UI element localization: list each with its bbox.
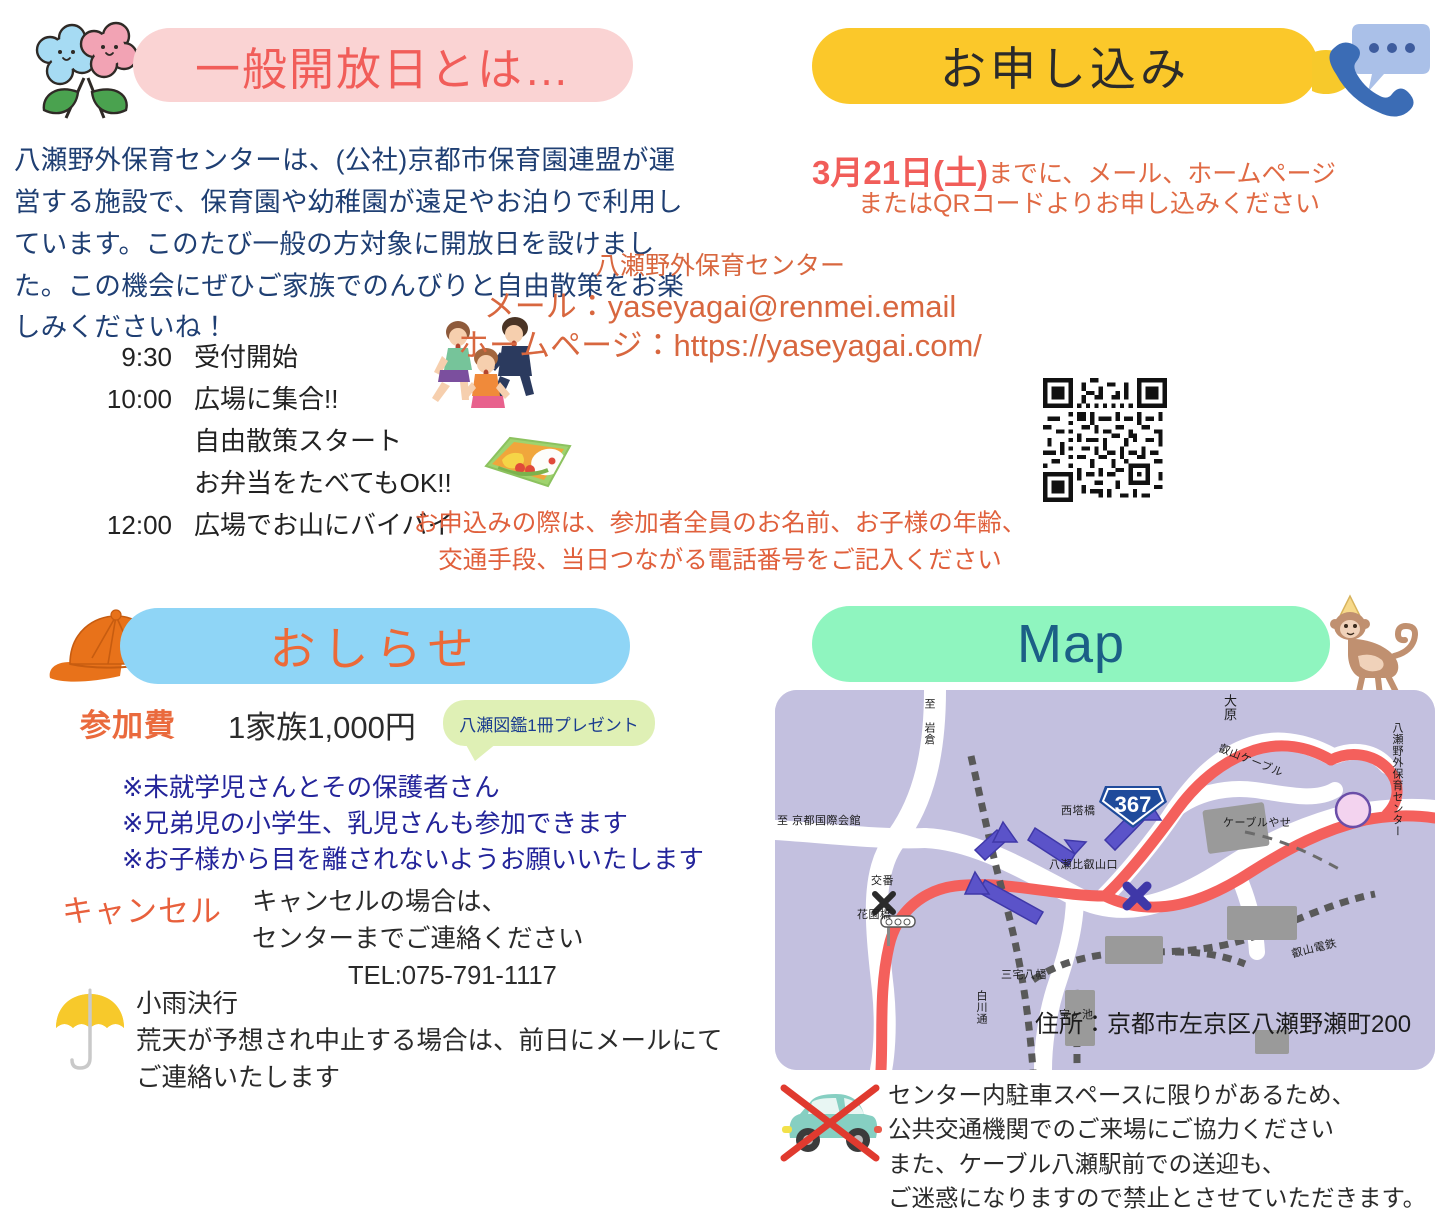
map-label-koban: 交番 xyxy=(871,872,894,888)
schedule-row: 自由散策スタート xyxy=(60,420,453,462)
apply-note-line: 交通手段、当日つながる電話番号をご記入ください xyxy=(0,543,1440,580)
schedule-text: 広場に集合!! xyxy=(194,378,338,420)
cancel-line: センターまでご連絡ください xyxy=(252,921,584,958)
cancel-line: キャンセルの場合は、 xyxy=(252,884,584,921)
schedule-time xyxy=(60,462,194,504)
monkey-icon xyxy=(1318,594,1430,698)
map-label-to-iwakura: 至 岩倉 xyxy=(923,698,934,745)
map-label-miyake-hachiman: 三宅八幡 xyxy=(1001,966,1047,982)
bento-illustration xyxy=(480,424,576,502)
rain-title: 小雨決行 xyxy=(136,986,723,1023)
schedule-text: 自由散策スタート xyxy=(194,420,402,462)
svg-text:367: 367 xyxy=(1115,792,1152,817)
map-label-ohara: 大原 xyxy=(1223,694,1236,721)
parking-note-line: センター内駐車スペースに限りがあるため、 xyxy=(888,1078,1426,1112)
gift-bubble: 八瀬図鑑1冊プレゼント xyxy=(443,700,655,746)
notice-note: ※お子様から目を離されないようお願いいたします xyxy=(122,842,704,878)
rain-line: ご連絡いたします xyxy=(136,1060,723,1097)
map-title: Map xyxy=(812,606,1330,682)
map-label-center: 八瀬野外保育センター xyxy=(1391,722,1402,837)
notice-note: ※未就学児さんとその保護者さん xyxy=(122,770,704,806)
map-label-saitou-bashi: 西塔橋 xyxy=(1061,802,1096,818)
about-line: 営する施設で、保育園や幼稚園が遠足やお泊りで利用し xyxy=(14,182,704,224)
schedule-row: 10:00 広場に集合!! xyxy=(60,378,453,420)
contact-website[interactable]: ホームページ：https://yaseyagai.com/ xyxy=(0,320,1440,365)
parking-note: センター内駐車スペースに限りがあるため、 公共交通機関でのご来場にご協力ください… xyxy=(888,1078,1426,1215)
parking-note-line: ご迷惑になりますので禁止とさせていただきます。 xyxy=(888,1181,1426,1215)
flyer-page: 一般開放日とは… 八瀬野外保育センターは、(公社)京都市保育園連盟が運 営する施… xyxy=(0,0,1440,1209)
umbrella-icon xyxy=(52,988,128,1076)
rain-body: 小雨決行 荒天が予想され中止する場合は、前日にメールにて ご連絡いたします xyxy=(136,986,723,1097)
schedule-text: お弁当をたべてもOK!! xyxy=(194,462,452,504)
map-label-to-kyoto-kokusai: 至 京都国際会館 xyxy=(777,812,861,828)
schedule-time xyxy=(60,420,194,462)
schedule-time: 10:00 xyxy=(60,378,194,420)
about-line: 八瀬野外保育センターは、(公社)京都市保育園連盟が運 xyxy=(14,140,704,182)
cancel-label: キャンセル xyxy=(62,886,222,931)
map-label-yase-hieizanguchi: 八瀬比叡山口 xyxy=(1049,856,1118,872)
rain-line: 荒天が予想され中止する場合は、前日にメールにて xyxy=(136,1023,723,1060)
qr-code[interactable] xyxy=(1043,378,1167,502)
map-label-hanazono-bashi: 花園橋 xyxy=(857,906,892,922)
phone-icon xyxy=(1312,14,1432,120)
notice-title: おしらせ xyxy=(120,608,630,684)
schedule-row: お弁当をたべてもOK!! xyxy=(60,462,453,504)
flowers-icon xyxy=(26,14,144,126)
notice-notes: ※未就学児さんとその保護者さん ※兄弟児の小学生、乳児さんも参加できます ※お子… xyxy=(122,770,704,879)
apply-note-line: お申込みの際は、参加者全員のお名前、お子様の年齢、 xyxy=(0,506,1440,543)
parking-note-line: また、ケーブル八瀬駅前での送迎も、 xyxy=(888,1147,1426,1181)
center-name: 八瀬野外保育センター xyxy=(0,246,1440,282)
apply-title: お申し込み xyxy=(812,28,1318,104)
no-car-icon xyxy=(778,1082,882,1164)
map-label-cable-yase: ケーブルやせ xyxy=(1223,814,1291,830)
apply-deadline-line2: またはQRコードよりお申し込みください xyxy=(858,184,1320,220)
apply-note: お申込みの際は、参加者全員のお名前、お子様の年齢、 交通手段、当日つながる電話番… xyxy=(0,506,1440,580)
cancel-body: キャンセルの場合は、 センターまでご連絡ください TEL:075-791-111… xyxy=(252,884,584,995)
about-title: 一般開放日とは… xyxy=(133,28,633,102)
map-label-shirakawa-dori: 白川通 xyxy=(975,990,986,1025)
parking-note-line: 公共交通機関でのご来場にご協力ください xyxy=(888,1112,1426,1146)
fee-value: 1家族1,000円 xyxy=(228,702,416,747)
map-address: 住所：京都市左京区八瀬野瀬町200 xyxy=(1035,1004,1411,1039)
fee-label: 参加費 xyxy=(80,700,176,745)
notice-note: ※兄弟児の小学生、乳児さんも参加できます xyxy=(122,806,704,842)
